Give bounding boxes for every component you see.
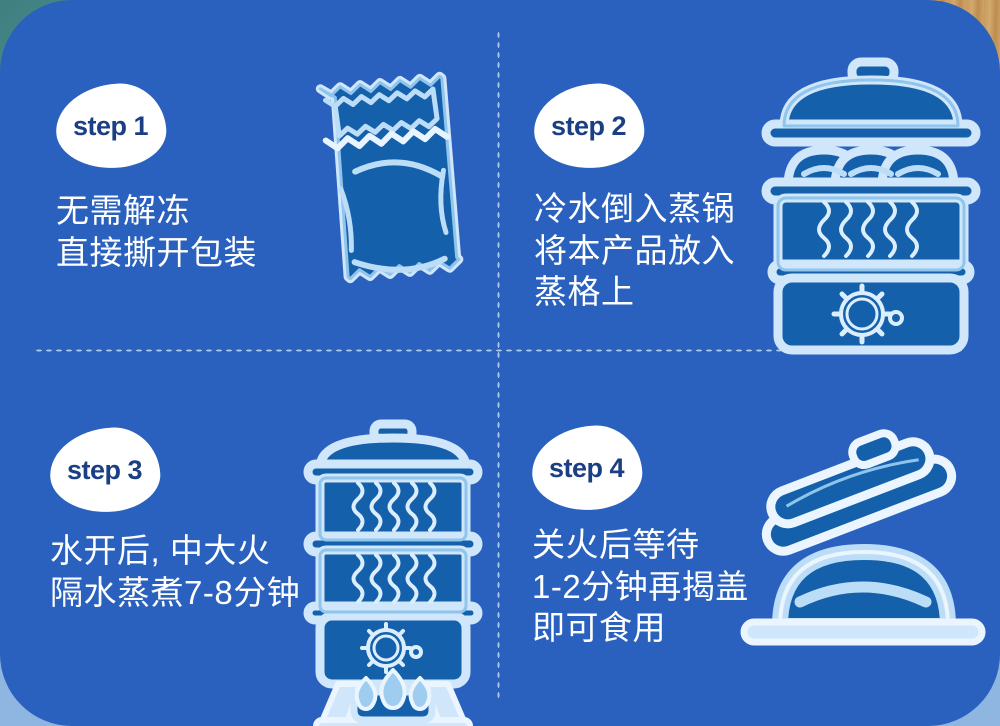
infographic-root: step 1 无需解冻 直接撕开包装 bbox=[0, 0, 1000, 726]
step-1-panel: step 1 无需解冻 直接撕开包装 bbox=[0, 0, 498, 350]
step-3-instruction-text: 水开后, 中大火 隔水蒸煮7-8分钟 bbox=[50, 530, 300, 613]
step-2-badge-label: step 2 bbox=[551, 111, 626, 142]
step-1-badge: step 1 bbox=[54, 81, 168, 171]
steamer-on-stove-icon bbox=[296, 420, 496, 670]
step-2-panel: step 2 冷水倒入蒸锅 将本产品放入 蒸格上 bbox=[500, 0, 1000, 350]
frozen-package-icon bbox=[290, 58, 490, 298]
step-3-badge-label: step 3 bbox=[67, 455, 142, 486]
step-4-badge-label: step 4 bbox=[549, 453, 624, 484]
step-1-badge-label: step 1 bbox=[73, 111, 148, 142]
step-2-instruction-text: 冷水倒入蒸锅 将本产品放入 蒸格上 bbox=[534, 188, 735, 313]
step-2-badge: step 2 bbox=[532, 81, 646, 171]
step-1-instruction-text: 无需解冻 直接撕开包装 bbox=[56, 190, 257, 273]
step-3-panel: step 3 水开后, 中大火 隔水蒸煮7-8分钟 bbox=[0, 352, 498, 726]
steamer-with-buns-icon bbox=[752, 52, 990, 302]
step-4-instruction-text: 关火后等待 1-2分钟再揭盖 即可食用 bbox=[532, 524, 749, 649]
step-4-panel: step 4 关火后等待 1-2分钟再揭盖 即可食用 bbox=[500, 352, 1000, 726]
lid-lifted-bun-icon bbox=[738, 424, 988, 654]
step-3-badge: step 3 bbox=[48, 425, 162, 515]
step-4-badge: step 4 bbox=[530, 423, 644, 513]
